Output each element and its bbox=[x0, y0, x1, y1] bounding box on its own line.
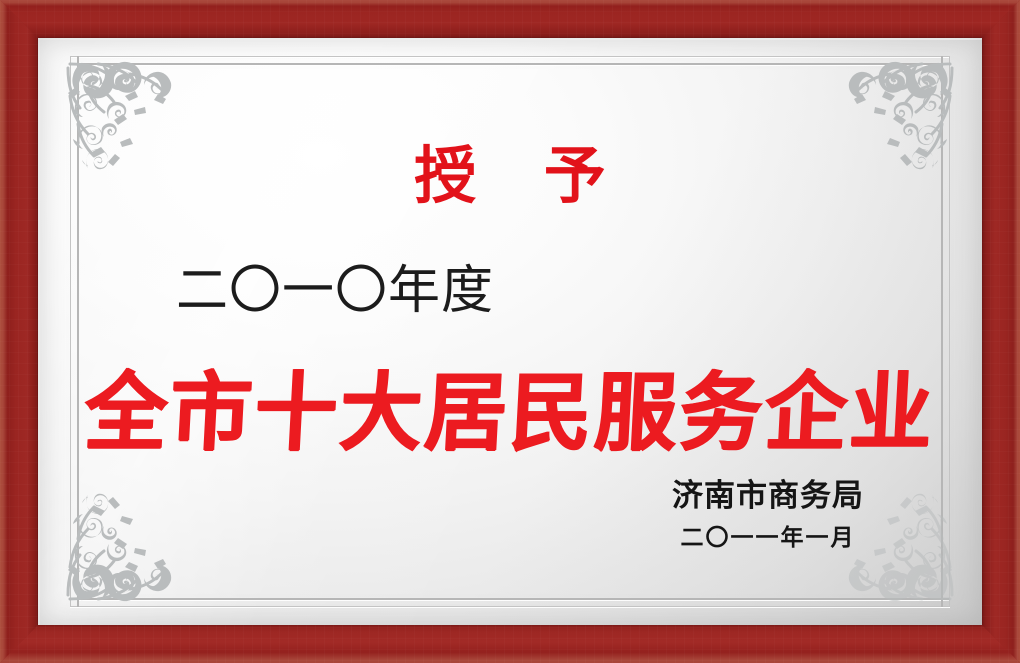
issuer-date-text: 二〇一一年一月 bbox=[672, 525, 864, 550]
metal-plate: 授 予 二〇一〇年度 全市十大居民服务企业 济南市商务局 二〇一一年一月 bbox=[38, 38, 982, 625]
award-title-text: 全市十大居民服务企业 bbox=[35, 366, 984, 462]
award-plaque: 授 予 二〇一〇年度 全市十大居民服务企业 济南市商务局 二〇一一年一月 bbox=[0, 0, 1020, 663]
frame-right-stile bbox=[982, 0, 1020, 663]
award-verb-text: 授 予 bbox=[38, 146, 982, 208]
frame-top-rail bbox=[0, 0, 1020, 38]
plaque-inscription: 授 予 二〇一〇年度 全市十大居民服务企业 济南市商务局 二〇一一年一月 bbox=[38, 38, 982, 625]
issuer-name-text: 济南市商务局 bbox=[672, 479, 864, 513]
award-year-text: 二〇一〇年度 bbox=[176, 266, 494, 318]
frame-left-stile bbox=[0, 0, 38, 663]
issuer-block: 济南市商务局 二〇一一年一月 bbox=[672, 479, 864, 550]
frame-bottom-rail bbox=[0, 625, 1020, 663]
